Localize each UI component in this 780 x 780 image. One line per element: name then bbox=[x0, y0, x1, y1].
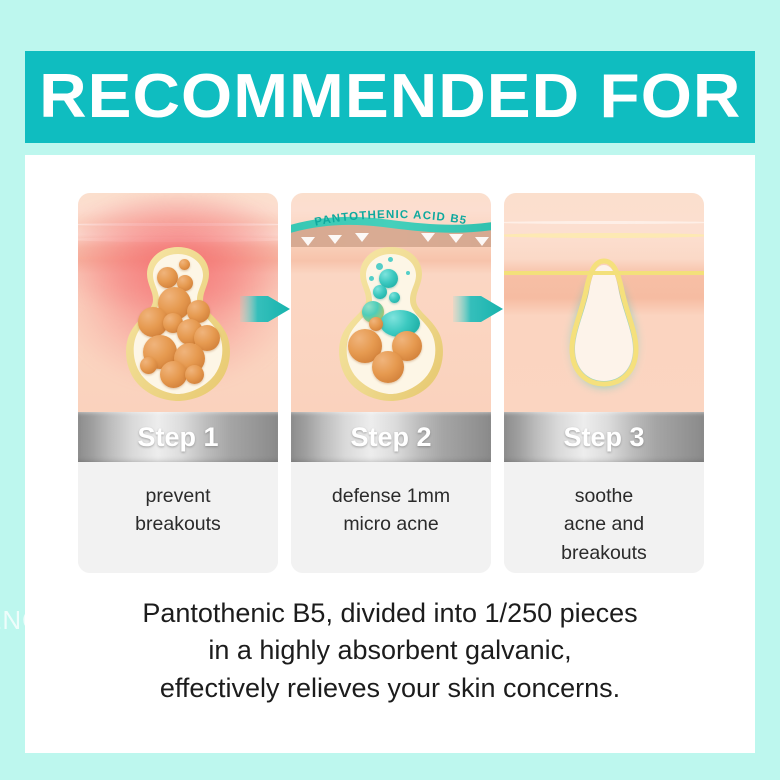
treated-pore-icon bbox=[332, 243, 450, 403]
step-bar-1: Step 1 bbox=[78, 412, 278, 462]
step-caption-card-2: defense 1mm micro acne bbox=[291, 462, 491, 573]
footer-paragraph: Pantothenic B5, divided into 1/250 piece… bbox=[25, 595, 755, 707]
step-bar-2: Step 2 bbox=[291, 412, 491, 462]
step-caption-3: soothe acne and breakouts bbox=[561, 482, 647, 567]
skin-illustration-step-3 bbox=[504, 193, 704, 412]
clogged-pore-icon bbox=[119, 243, 237, 403]
page-title: RECOMMENDED FOR bbox=[39, 66, 741, 128]
dermis-line-icon bbox=[504, 271, 704, 275]
step-bar-label-2: Step 2 bbox=[350, 422, 431, 453]
arrow-step2-to-step3-icon bbox=[453, 288, 503, 330]
steps-row: Step 1 prevent breakouts bbox=[78, 193, 704, 573]
step-caption-2: defense 1mm micro acne bbox=[332, 482, 450, 539]
step-caption-card-1: prevent breakouts bbox=[78, 462, 278, 573]
step-caption-1: prevent breakouts bbox=[135, 482, 221, 539]
step-bar-3: Step 3 bbox=[504, 412, 704, 462]
step-bar-label-1: Step 1 bbox=[137, 422, 218, 453]
step-card-3[interactable]: Step 3 soothe acne and breakouts bbox=[504, 193, 704, 573]
step-caption-card-3: soothe acne and breakouts bbox=[504, 462, 704, 573]
header-banner: RECOMMENDED FOR bbox=[25, 51, 755, 143]
arrow-step1-to-step2-icon bbox=[240, 288, 290, 330]
content-panel: Step 1 prevent breakouts bbox=[25, 155, 755, 753]
step-card-2[interactable]: PANTOTHENIC ACID B5 bbox=[291, 193, 491, 573]
step-bar-label-3: Step 3 bbox=[563, 422, 644, 453]
step-card-1[interactable]: Step 1 prevent breakouts bbox=[78, 193, 278, 573]
clean-pore-icon bbox=[544, 245, 664, 395]
